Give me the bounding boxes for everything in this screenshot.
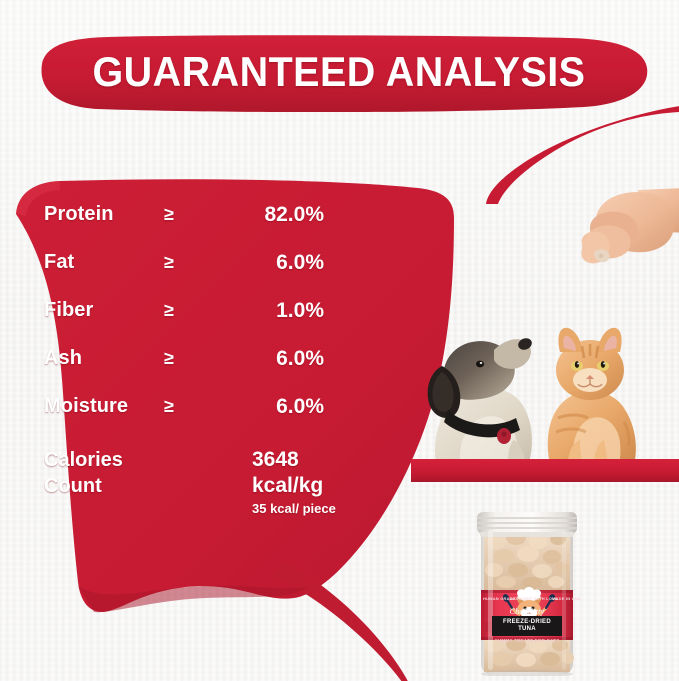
table-row: Fiber ≥ 1.0%	[44, 299, 324, 347]
comparison-operator: ≥	[164, 300, 174, 321]
product-jar: Chef Kitty FREEZE-DRIED TUNA YUMMY TREAT…	[474, 508, 580, 676]
calories-label-line1: Calories	[44, 447, 123, 473]
comparison-operator: ≥	[164, 396, 174, 417]
calories-value-line1: 3648	[252, 447, 323, 473]
nutrient-label: Fiber	[44, 299, 93, 322]
red-shelf-bar	[411, 459, 679, 482]
comparison-operator: ≥	[164, 348, 174, 369]
table-row: Fat ≥ 6.0%	[44, 251, 324, 299]
nutrient-label: Ash	[44, 347, 82, 370]
comparison-operator: ≥	[164, 204, 174, 225]
table-row: Ash ≥ 6.0%	[44, 347, 324, 395]
header-banner: GUARANTEED ANALYSIS	[28, 34, 650, 112]
calories-per-piece: 35 kcal/ piece	[252, 501, 336, 516]
nutrient-label: Fat	[44, 251, 74, 274]
analysis-table: Protein ≥ 82.0% Fat ≥ 6.0% Fiber ≥ 1.0% …	[44, 203, 324, 443]
hand-holding-treat	[560, 188, 679, 280]
page-title: GUARANTEED ANALYSIS	[47, 34, 632, 112]
cat-illustration	[528, 318, 656, 465]
calories-value: 3648 kcal/kg	[252, 447, 323, 499]
nutrient-label: Moisture	[44, 395, 128, 418]
nutrient-value: 6.0%	[204, 251, 324, 275]
nutrient-value: 82.0%	[204, 203, 324, 227]
comparison-operator: ≥	[164, 252, 174, 273]
table-row: Protein ≥ 82.0%	[44, 203, 324, 251]
calories-value-line2: kcal/kg	[252, 473, 323, 499]
nutrient-label: Protein	[44, 203, 114, 226]
calories-label-line2: Count	[44, 473, 123, 499]
nutrient-value: 6.0%	[204, 347, 324, 371]
jar-illustration	[474, 508, 580, 676]
nutrient-value: 6.0%	[204, 395, 324, 419]
calories-label: Calories Count	[44, 447, 123, 499]
guaranteed-analysis-infographic: GUARANTEED ANALYSIS	[0, 0, 679, 681]
nutrient-value: 1.0%	[204, 299, 324, 323]
hand-illustration	[560, 188, 679, 280]
table-row: Moisture ≥ 6.0%	[44, 395, 324, 443]
cat-looking-up	[528, 318, 656, 465]
